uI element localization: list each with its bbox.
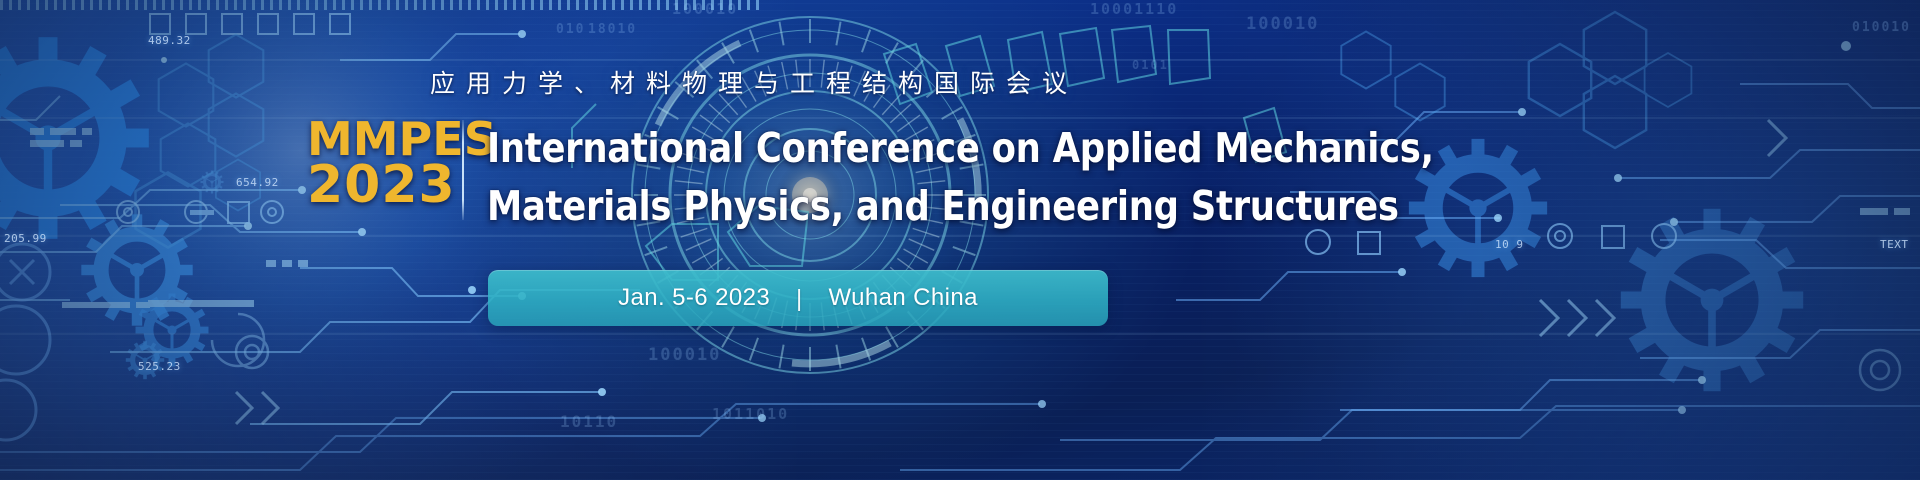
- logo-divider: [462, 120, 464, 220]
- logo-year: 2023: [307, 162, 452, 210]
- banner-content: 应用力学、材料物理与工程结构国际会议 MMPES 2023 Internatio…: [0, 0, 1920, 480]
- title-line-1: International Conference on Applied Mech…: [487, 124, 1434, 172]
- event-details-banner: Jan. 5-6 2023 | Wuhan China: [488, 270, 1108, 326]
- event-date: Jan. 5-6 2023: [618, 284, 770, 312]
- event-separator: |: [796, 285, 802, 312]
- conference-title-chinese: 应用力学、材料物理与工程结构国际会议: [430, 64, 1078, 100]
- conference-logo: MMPES 2023: [307, 118, 452, 210]
- conference-banner: 489.32 654.92 205.99 525.23 10 9 TEXT 10…: [0, 0, 1920, 480]
- event-location: Wuhan China: [828, 284, 977, 312]
- conference-title-english: International Conference on Applied Mech…: [487, 119, 1434, 235]
- title-line-2: Materials Physics, and Engineering Struc…: [487, 177, 1434, 235]
